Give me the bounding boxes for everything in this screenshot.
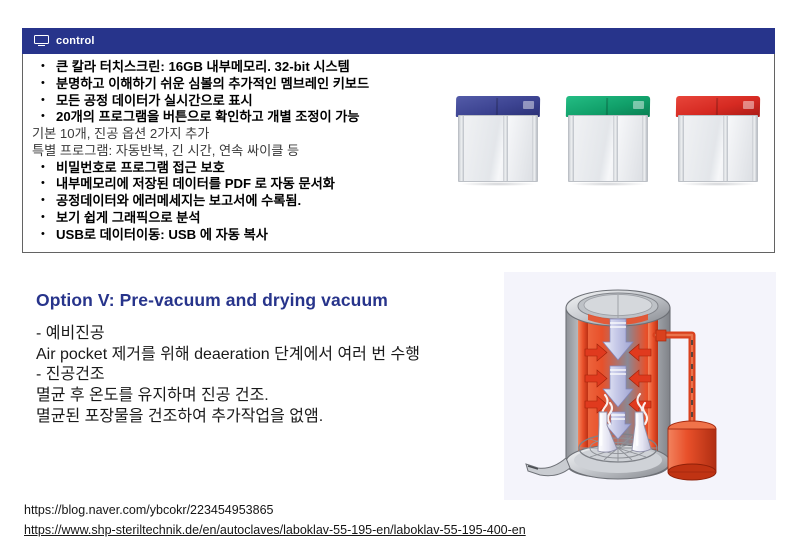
option-v-line: - 예비진공 bbox=[36, 324, 506, 345]
feature-item: • 분명하고 이해하기 쉬운 심볼의 추가적인 멤브레인 키보드 bbox=[31, 77, 766, 91]
feature-text: 모든 공정 데이터가 실시간으로 표시 bbox=[47, 94, 253, 107]
feature-item: • 보기 쉽게 그래픽으로 분석 bbox=[31, 211, 766, 225]
option-v-block: Option V: Pre-vacuum and drying vacuum -… bbox=[36, 290, 506, 427]
option-v-line: Air pocket 제거를 위해 deaeration 단계에서 여러 번 수… bbox=[36, 345, 506, 366]
unit-body bbox=[458, 115, 538, 182]
bullet-icon: • bbox=[31, 110, 47, 124]
feature-text: 보기 쉽게 그래픽으로 분석 bbox=[47, 211, 200, 224]
unit-body bbox=[678, 115, 758, 182]
autoclave-unit-red bbox=[672, 96, 764, 184]
bullet-icon: • bbox=[31, 211, 47, 225]
unit-body bbox=[568, 115, 648, 182]
unit-shadow bbox=[680, 182, 756, 186]
option-v-line: 멸균된 포장물을 건조하여 추가작업을 없앰. bbox=[36, 407, 506, 428]
source-url[interactable]: https://www.shp-steriltechnik.de/en/auto… bbox=[24, 520, 644, 540]
feature-text: 분명하고 이해하기 쉬운 심볼의 추가적인 멤브레인 키보드 bbox=[47, 77, 369, 90]
bullet-icon: • bbox=[31, 177, 47, 191]
autoclave-unit-blue bbox=[452, 96, 544, 184]
option-v-line: - 진공건조 bbox=[36, 365, 506, 386]
unit-lid-red bbox=[676, 96, 760, 117]
autoclave-units-photo bbox=[452, 92, 764, 184]
feature-text: 20개의 프로그램을 버튼으로 확인하고 개별 조정이 가능 bbox=[47, 110, 360, 123]
option-v-line: 멸균 후 온도를 유지하며 진공 건조. bbox=[36, 386, 506, 407]
autoclave-cross-section-diagram bbox=[504, 272, 776, 500]
monitor-icon bbox=[34, 35, 49, 48]
bullet-icon: • bbox=[31, 77, 47, 91]
unit-lid-green bbox=[566, 96, 650, 117]
feature-item: • USB로 데이터이동: USB 에 자동 복사 bbox=[31, 228, 766, 242]
feature-text: 비밀번호로 프로그램 접근 보호 bbox=[47, 161, 225, 174]
control-panel-header: control bbox=[22, 28, 775, 54]
feature-text: 큰 칼라 터치스크린: 16GB 내부메모리. 32-bit 시스템 bbox=[47, 60, 350, 73]
unit-shadow bbox=[460, 182, 536, 186]
feature-text: 내부메모리에 저장된 데이터를 PDF 로 자동 문서화 bbox=[47, 177, 335, 190]
bullet-icon: • bbox=[31, 94, 47, 108]
feature-item: • 큰 칼라 터치스크린: 16GB 내부메모리. 32-bit 시스템 bbox=[31, 60, 766, 74]
feature-item: • 공정데이터와 에러메세지는 보고서에 수록됨. bbox=[31, 194, 766, 208]
option-v-heading: Option V: Pre-vacuum and drying vacuum bbox=[36, 290, 506, 311]
bullet-icon: • bbox=[31, 194, 47, 208]
bullet-icon: • bbox=[31, 60, 47, 74]
feature-text: 공정데이터와 에러메세지는 보고서에 수록됨. bbox=[47, 194, 301, 207]
diagram-svg bbox=[504, 272, 776, 500]
source-links: https://blog.naver.com/ybcokr/2234549538… bbox=[24, 500, 644, 541]
bullet-icon: • bbox=[31, 228, 47, 242]
feature-text: USB로 데이터이동: USB 에 자동 복사 bbox=[47, 228, 268, 241]
unit-shadow bbox=[570, 182, 646, 186]
control-panel-title: control bbox=[56, 35, 95, 47]
autoclave-unit-green bbox=[562, 96, 654, 184]
source-url[interactable]: https://blog.naver.com/ybcokr/2234549538… bbox=[24, 500, 644, 520]
unit-lid-blue bbox=[456, 96, 540, 117]
bullet-icon: • bbox=[31, 161, 47, 175]
